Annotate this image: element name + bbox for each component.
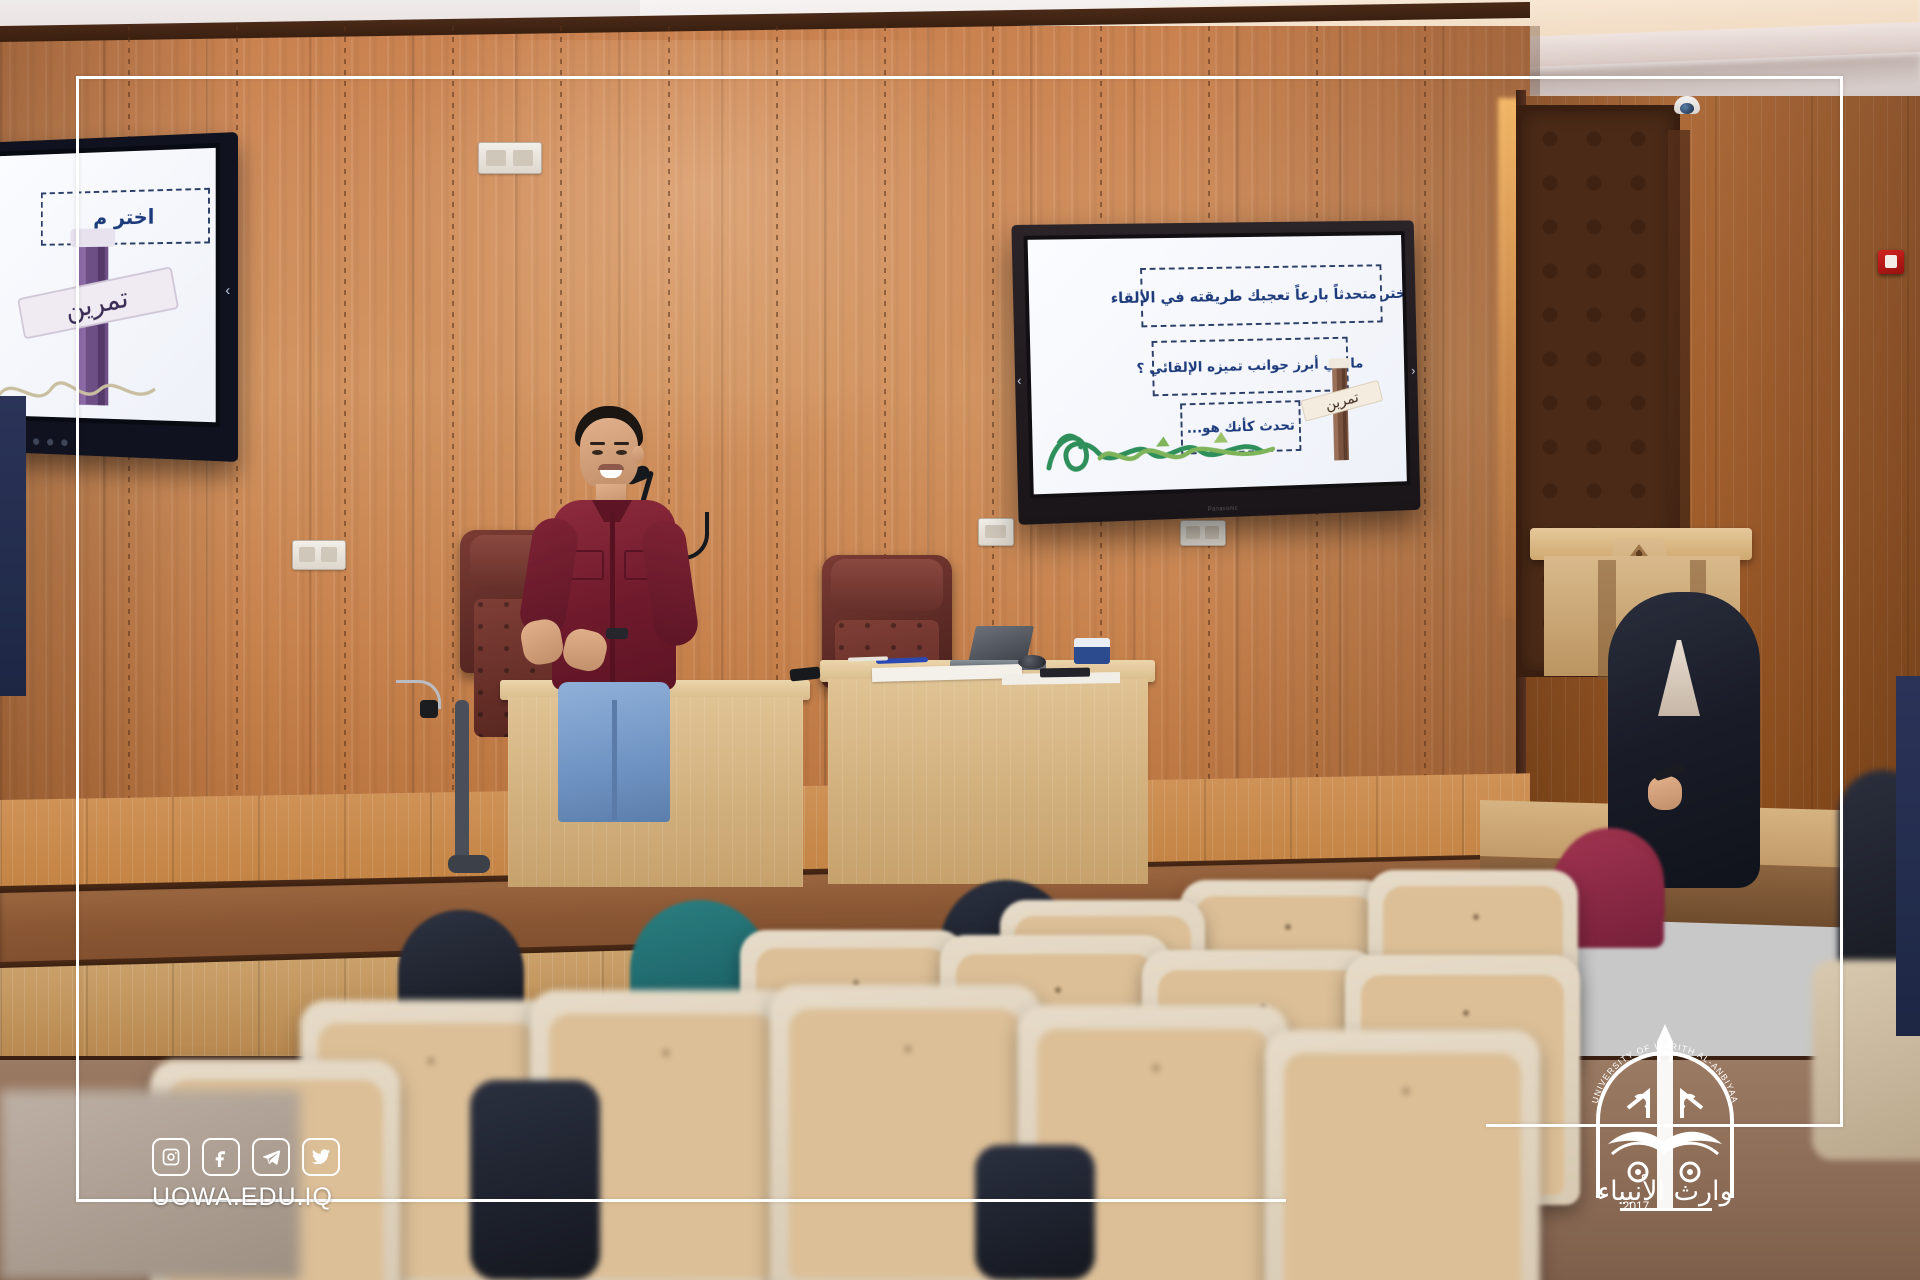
twitter-icon[interactable] <box>302 1138 340 1176</box>
university-logo: UNIVERSITY OF WARITH AL-ANBIYAA وارث الأ… <box>1576 1022 1754 1212</box>
microphone-desk[interactable] <box>1018 655 1046 669</box>
secondary-display[interactable]: اختر م تمرين <box>0 132 238 462</box>
security-camera-icon <box>1674 96 1700 114</box>
auditorium-seat[interactable] <box>1265 1030 1540 1280</box>
display-bezel: اختر م تمرين <box>0 143 221 428</box>
display-control-buttons[interactable] <box>4 436 175 450</box>
social-media-bar: UOWA.EDU.IQ <box>152 1138 422 1212</box>
logo-arabic-text: وارث الأنبياء <box>1597 1173 1732 1207</box>
power-socket-icon[interactable] <box>478 142 542 174</box>
mobile-phone[interactable] <box>1040 668 1090 678</box>
student-presenter <box>520 400 710 820</box>
wall-seam <box>452 26 454 816</box>
fire-alarm-icon[interactable] <box>1878 250 1904 274</box>
slide-line-1: اختر متحدثاً بارعاً تعجبك طريقته في الإل… <box>1140 264 1383 327</box>
screenshot-root: اختر م تمرين <box>0 0 1920 1280</box>
board-screen: اختر متحدثاً بارعاً تعجبك طريقته في الإل… <box>1028 235 1407 494</box>
signpost-graphic: تمرين <box>1297 341 1386 468</box>
instructor-hands <box>1648 776 1682 810</box>
website-url[interactable]: UOWA.EDU.IQ <box>152 1183 422 1212</box>
interactive-smart-board[interactable]: اختر متحدثاً بارعاً تعجبك طريقته في الإل… <box>1011 220 1420 525</box>
audience-person <box>470 1080 600 1280</box>
board-bezel: اختر متحدثاً بارعاً تعجبك طريقته في الإل… <box>1024 231 1411 498</box>
board-brand-label: Panasonic <box>1208 506 1238 513</box>
audience-person <box>975 1145 1095 1280</box>
chevron-right-icon[interactable]: › <box>1411 363 1415 378</box>
power-socket-icon[interactable] <box>978 518 1014 546</box>
wristwatch <box>606 628 628 639</box>
instagram-icon[interactable] <box>152 1138 190 1176</box>
telegram-icon[interactable] <box>252 1138 290 1176</box>
vine-ornament <box>1039 392 1283 490</box>
chair-base <box>448 855 490 873</box>
left-accent-band <box>0 396 26 696</box>
tissue-box[interactable] <box>1074 638 1110 664</box>
chevron-left-icon[interactable]: ‹ <box>225 282 230 299</box>
display-screen: اختر م تمرين <box>0 148 216 422</box>
facebook-icon[interactable] <box>202 1138 240 1176</box>
slide-left: اختر م تمرين <box>0 148 216 422</box>
power-socket-icon[interactable] <box>292 540 346 570</box>
desk-front-panel <box>828 679 1148 884</box>
wall-seam <box>1424 26 1426 816</box>
presenter-head <box>580 418 638 490</box>
social-icon-row <box>152 1138 422 1176</box>
right-accent-band <box>1896 676 1920 1036</box>
presentation-slide: اختر متحدثاً بارعاً تعجبك طريقته في الإل… <box>1028 235 1407 494</box>
chair-post <box>455 700 469 865</box>
power-socket-icon[interactable] <box>1180 520 1226 546</box>
chevron-left-icon[interactable]: ‹ <box>1017 373 1022 388</box>
wall-seam <box>344 26 346 816</box>
